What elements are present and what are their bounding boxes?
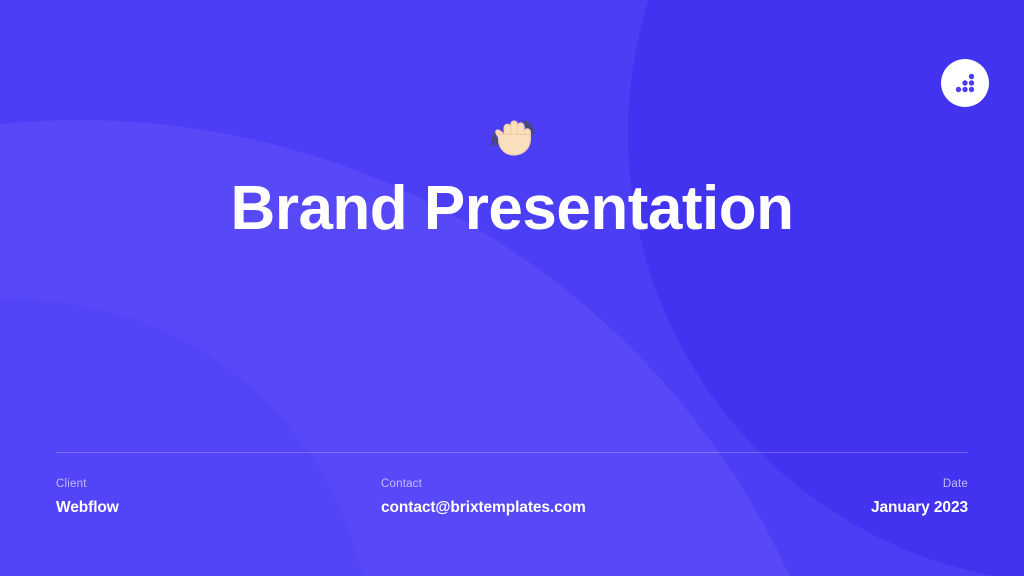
background-blob-light-secondary <box>0 300 370 576</box>
footer-divider <box>56 452 968 453</box>
meta-contact-label: Contact <box>381 478 861 490</box>
meta-date-value: January 2023 <box>861 499 968 517</box>
footer-meta: Client Webflow Contact contact@brixtempl… <box>56 478 968 517</box>
meta-client: Client Webflow <box>56 478 381 517</box>
meta-date-label: Date <box>861 478 968 490</box>
waving-hand-glyph <box>484 110 540 166</box>
meta-client-label: Client <box>56 478 381 490</box>
presentation-slide: Brand Presentation Client Webflow Contac… <box>0 0 1024 576</box>
meta-contact-value[interactable]: contact@brixtemplates.com <box>381 499 861 517</box>
page-title: Brand Presentation <box>0 176 1024 241</box>
hero-block: Brand Presentation <box>0 110 1024 241</box>
meta-date: Date January 2023 <box>861 478 968 517</box>
waving-hand-icon <box>0 110 1024 166</box>
logo-badge[interactable] <box>941 59 989 107</box>
brix-dots-icon <box>953 71 977 95</box>
meta-contact: Contact contact@brixtemplates.com <box>381 478 861 517</box>
meta-client-value: Webflow <box>56 499 381 517</box>
